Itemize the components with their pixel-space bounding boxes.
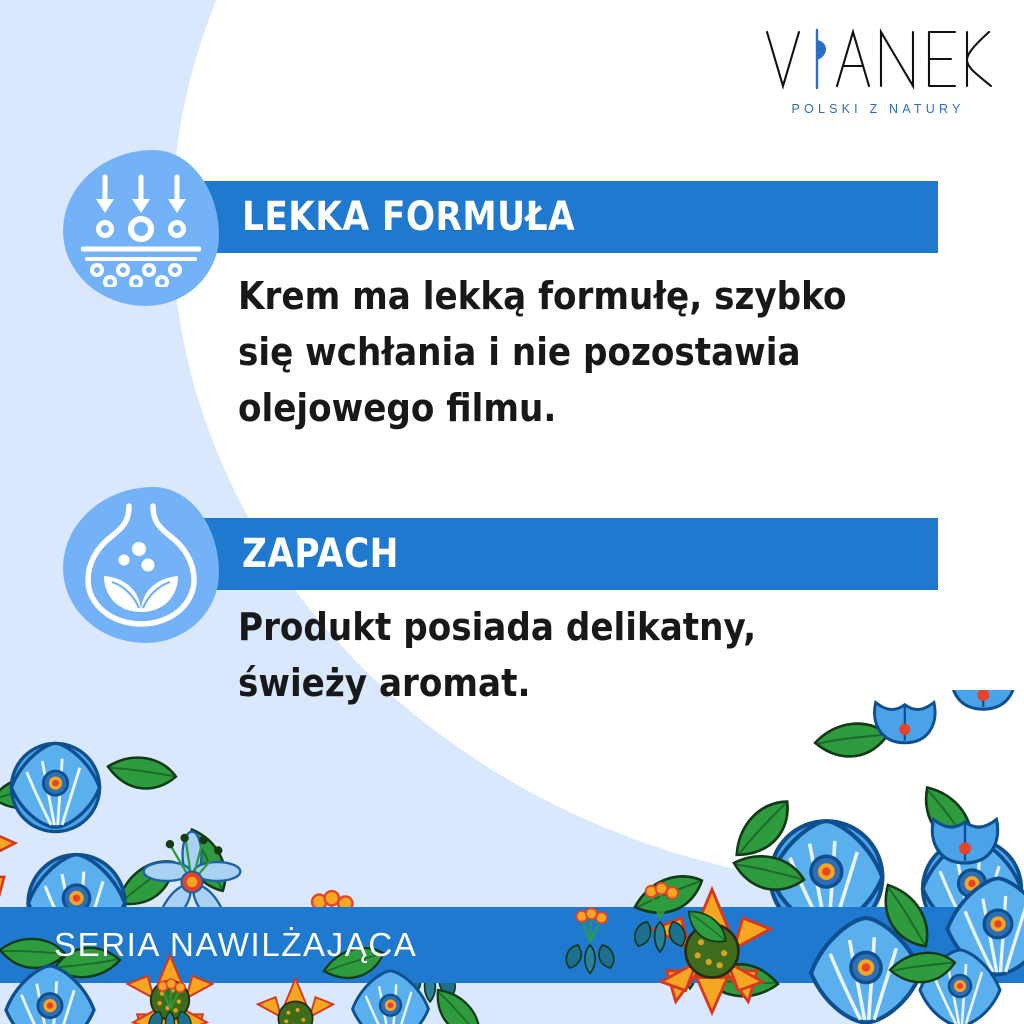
- logo-leaf-mark-icon: [817, 30, 826, 88]
- feature-body: Produkt posiada delikatny, świeży aromat…: [238, 599, 868, 711]
- feature-title-bar: LEKKA FORMUŁA: [148, 181, 938, 253]
- series-label: SERIA NAWILŻAJĄCA: [54, 926, 417, 964]
- logo-wordmark: [758, 26, 998, 92]
- fragrance-droplet-leaf-icon: [63, 487, 219, 643]
- feature-title: ZAPACH: [242, 531, 399, 577]
- vianek-letters-icon: [763, 26, 993, 92]
- promo-graphic: POLSKI Z NATURY LEKKA FORMUŁA: [0, 0, 1024, 1024]
- logo-tagline: POLSKI Z NATURY: [758, 102, 998, 116]
- absorption-arrows-glyph: [81, 169, 201, 287]
- absorption-arrows-icon: [63, 150, 219, 306]
- background-white-right-strip: [880, 0, 1024, 1024]
- feature-title: LEKKA FORMUŁA: [242, 194, 575, 240]
- brand-logo: POLSKI Z NATURY: [758, 26, 998, 116]
- fragrance-droplet-leaf-glyph: [82, 502, 200, 628]
- feature-body: Krem ma lekką formułę, szybko się wchłan…: [238, 268, 868, 437]
- feature-title-bar: ZAPACH: [148, 518, 938, 590]
